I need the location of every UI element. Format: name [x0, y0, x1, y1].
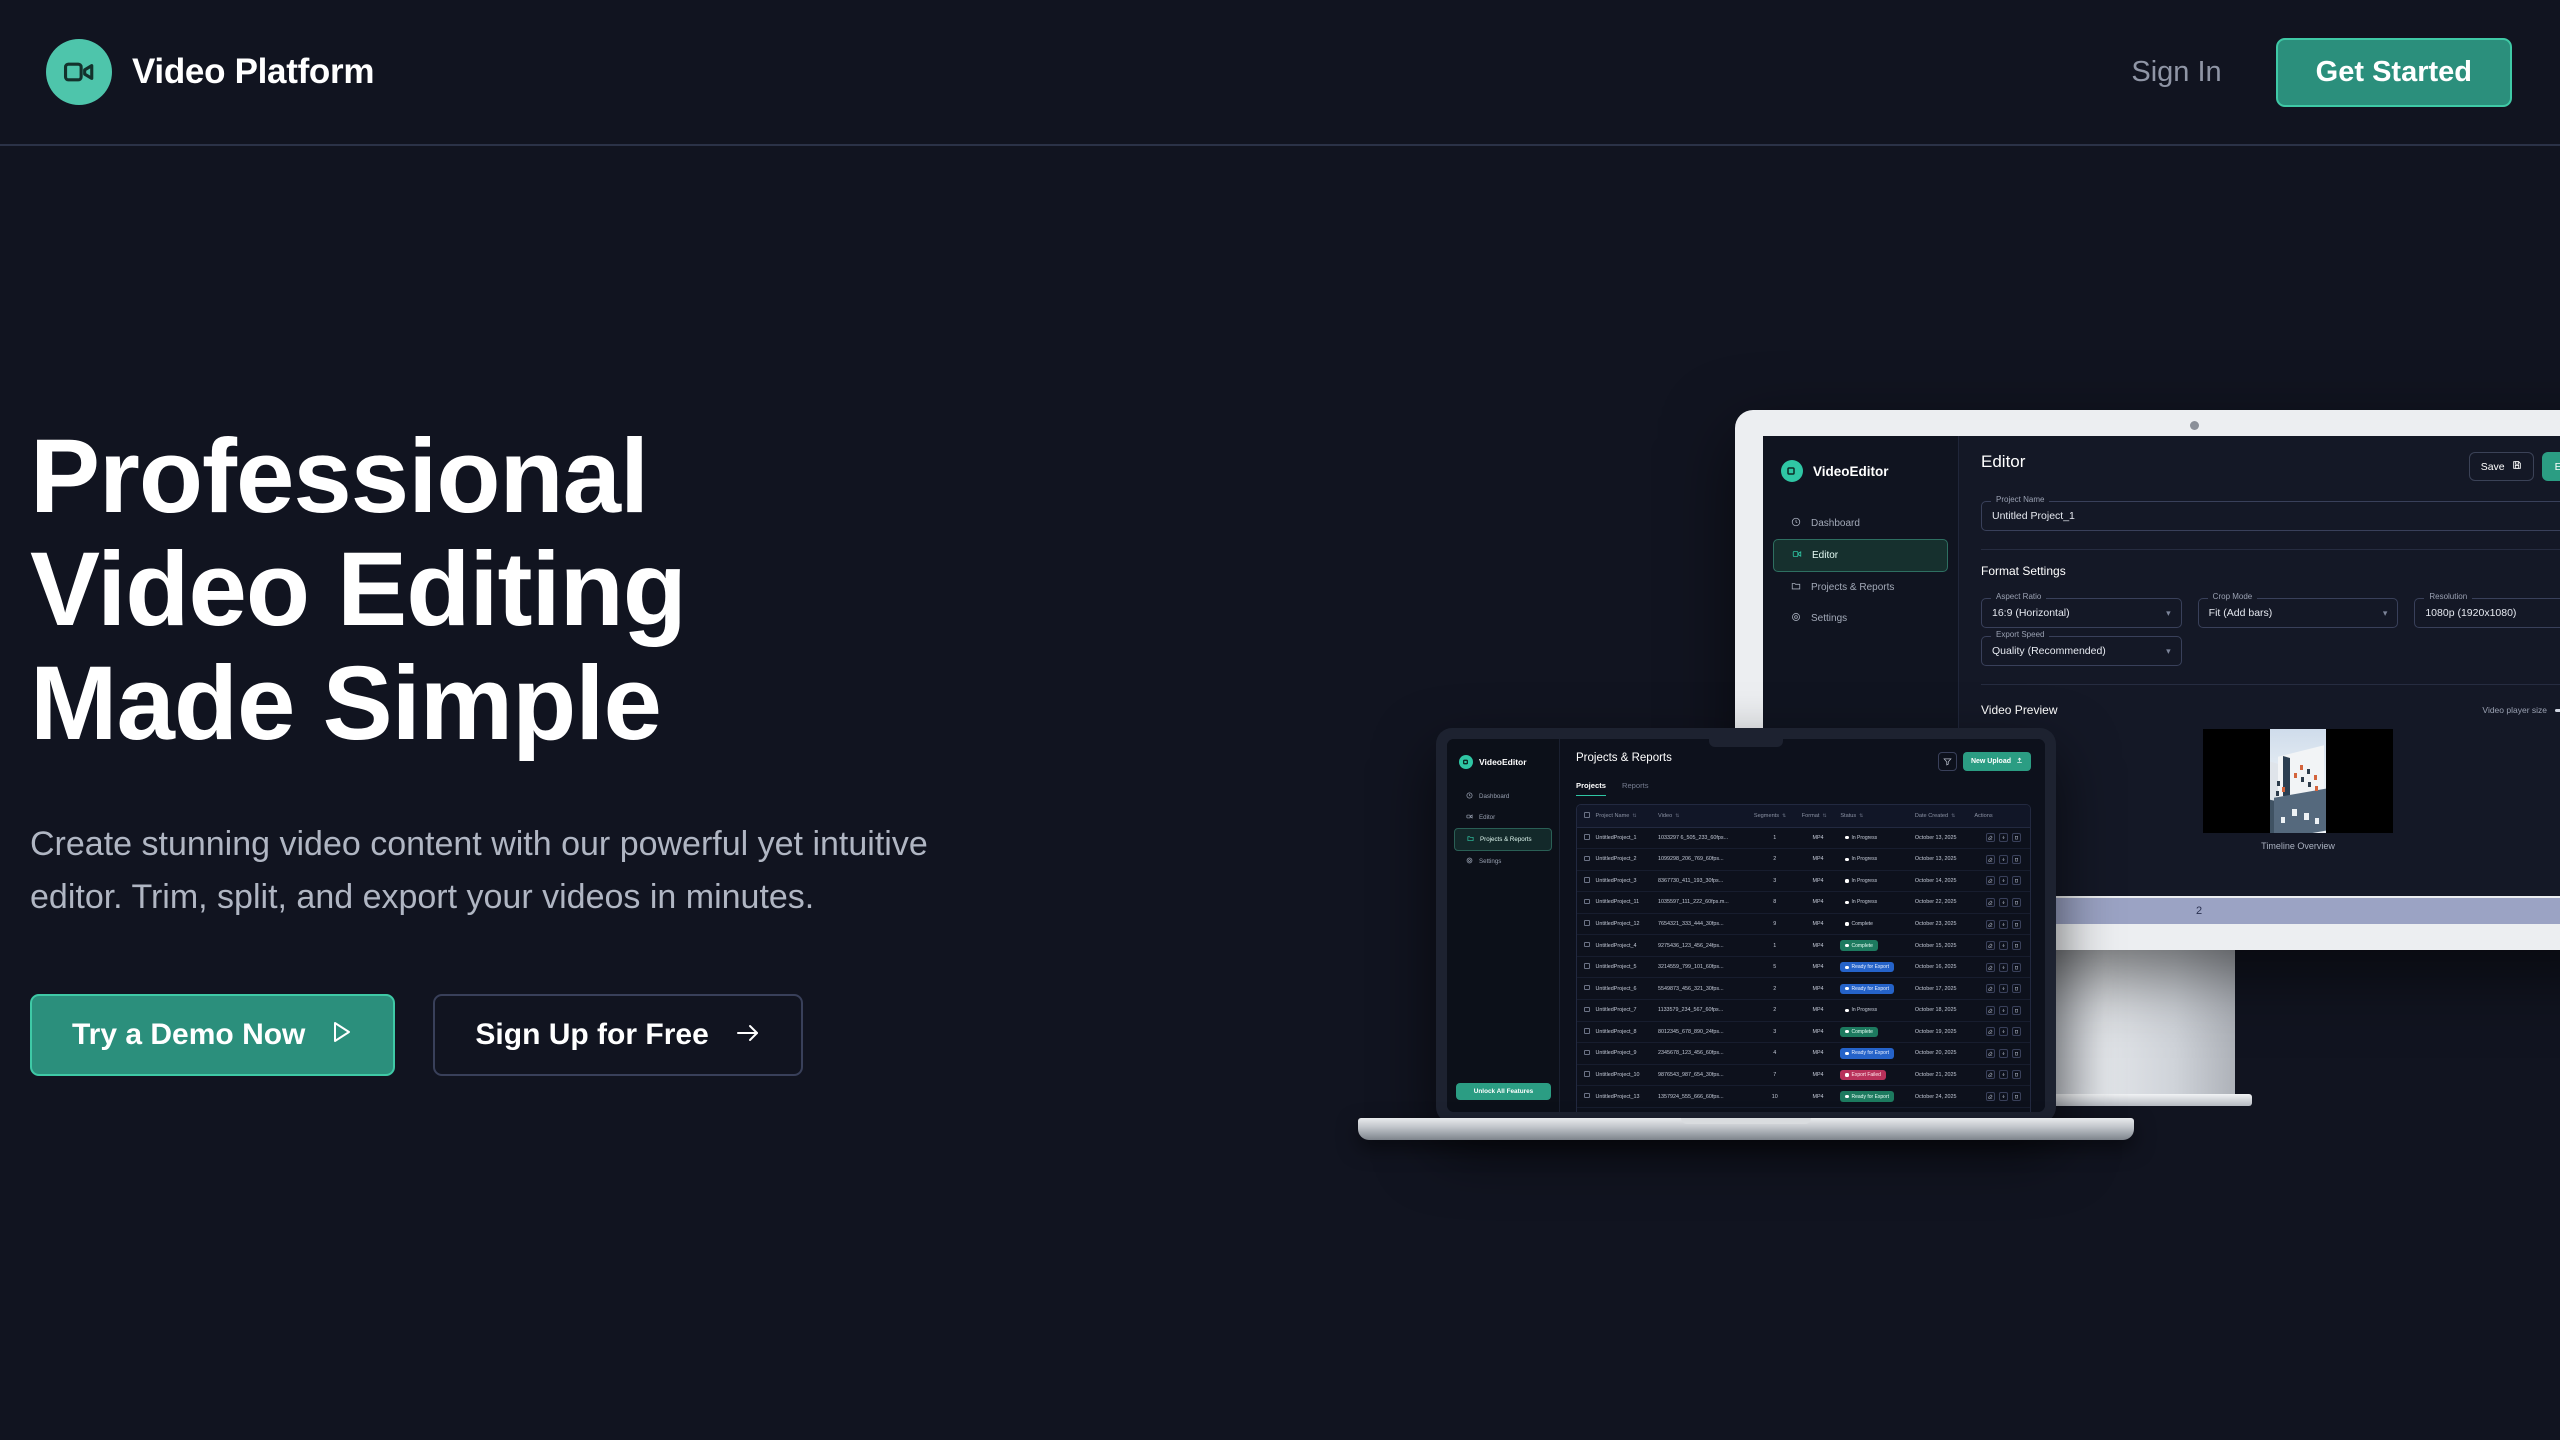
cell-video: 3214559_799_101_60fps...: [1655, 956, 1751, 978]
cell-status: Ready for Export: [1837, 978, 1912, 1000]
cell-video: 5549873_456_321_30fps...: [1655, 978, 1751, 1000]
row-checkbox-cell[interactable]: [1577, 935, 1593, 957]
sidebar-item-settings[interactable]: Settings: [1773, 603, 1948, 634]
delete-icon[interactable]: [2012, 1070, 2021, 1079]
row-checkbox-cell[interactable]: [1577, 1086, 1593, 1108]
dashboard-icon: [1791, 517, 1801, 530]
monitor-camera-dot: [2190, 421, 2199, 430]
crop-mode-label: Crop Mode: [2208, 592, 2258, 601]
status-badge: Ready for Export: [1840, 1091, 1894, 1101]
cell-video: 7654321_333_444_30fps...: [1655, 913, 1751, 935]
status-badge: Ready for Export: [1840, 962, 1894, 972]
cell-segments: 1: [1751, 935, 1799, 957]
status-badge: Export Failed: [1840, 1070, 1886, 1080]
cell-date-created: October 18, 2025: [1912, 1000, 1971, 1022]
cell-status: In Progress: [1837, 849, 1912, 871]
checkbox[interactable]: [1584, 1071, 1590, 1077]
table-row[interactable]: UntitledProject_127654321_333_444_30fps.…: [1577, 913, 2030, 935]
editor-topbar: Editor Save Export: [1981, 452, 2560, 481]
edit-icon[interactable]: [1986, 876, 1995, 885]
projects-main-panel: Projects & Reports New Upload: [1560, 739, 2045, 1112]
sign-in-link[interactable]: Sign In: [2131, 56, 2221, 89]
projects-page-title: Projects & Reports: [1576, 752, 1672, 764]
cell-segments: 11: [1751, 1107, 1799, 1112]
cell-video: 8012345_678_890_24fps...: [1655, 1021, 1751, 1043]
hero-cta-group: Try a Demo Now Sign Up for Free: [30, 994, 1130, 1076]
projects-table: Project Name⇅ Video⇅ Segments⇅ Format⇅ S…: [1576, 804, 2031, 1112]
download-icon[interactable]: [1999, 898, 2008, 907]
export-speed-select[interactable]: Quality (Recommended) ▾: [1981, 636, 2182, 666]
cell-format: MP4: [1799, 1107, 1838, 1112]
delete-icon[interactable]: [2012, 984, 2021, 993]
projects-sidebar: VideoEditor Dashboard Editor: [1447, 739, 1560, 1112]
table-row[interactable]: UntitledProject_53214559_799_101_60fps..…: [1577, 956, 2030, 978]
player-size-slider[interactable]: [2555, 709, 2560, 712]
get-started-button[interactable]: Get Started: [2276, 38, 2512, 107]
video-camera-icon: [46, 39, 112, 105]
delete-icon[interactable]: [2012, 1049, 2021, 1058]
status-badge: In Progress: [1840, 833, 1882, 843]
monitor-stand-neck: [2035, 950, 2235, 1098]
edit-icon[interactable]: [1986, 833, 1995, 842]
cell-format: MP4: [1799, 935, 1838, 957]
crop-mode-value: Fit (Add bars): [2209, 607, 2273, 619]
filter-icon[interactable]: [1938, 752, 1957, 771]
table-row[interactable]: UntitledProject_71133579_234_567_60fps..…: [1577, 1000, 2030, 1022]
edit-icon[interactable]: [1986, 941, 1995, 950]
select-all-header[interactable]: [1577, 805, 1593, 827]
video-preview-frame: [2203, 729, 2393, 833]
laptop-base: [1358, 1118, 2134, 1140]
cell-actions: [1971, 1107, 2030, 1112]
cell-video: 9876543_987_654_30fps...: [1655, 1064, 1751, 1086]
resolution-value: 1080p (1920x1080): [2425, 607, 2516, 619]
cell-project-name: UntitledProject_14: [1593, 1107, 1655, 1112]
sidebar-item-projects-reports[interactable]: Projects & Reports: [1454, 828, 1552, 851]
cell-date-created: October 14, 2025: [1912, 870, 1971, 892]
cell-project-name: UntitledProject_4: [1593, 935, 1655, 957]
chevron-down-icon: ▾: [2166, 646, 2171, 657]
chevron-down-icon: ▾: [2166, 608, 2171, 619]
delete-icon[interactable]: [2012, 1092, 2021, 1101]
table-row[interactable]: UntitledProject_88012345_678_890_24fps..…: [1577, 1021, 2030, 1043]
try-demo-label: Try a Demo Now: [72, 1018, 305, 1052]
cell-format: MP4: [1799, 913, 1838, 935]
download-icon[interactable]: [1999, 1006, 2008, 1015]
download-icon[interactable]: [1999, 1049, 2008, 1058]
download-icon[interactable]: [1999, 920, 2008, 929]
table-header-row: Project Name⇅ Video⇅ Segments⇅ Format⇅ S…: [1577, 805, 2030, 827]
dashboard-icon: [1466, 792, 1473, 801]
table-row[interactable]: UntitledProject_21099298_206_769_60fps..…: [1577, 849, 2030, 871]
delete-icon[interactable]: [2012, 876, 2021, 885]
cell-project-name: UntitledProject_11: [1593, 892, 1655, 914]
checkbox[interactable]: [1584, 812, 1590, 818]
edit-icon[interactable]: [1986, 1027, 1995, 1036]
cell-video: 8367730_411_193_30fps...: [1655, 870, 1751, 892]
row-checkbox-cell[interactable]: [1577, 956, 1593, 978]
divider: [1981, 684, 2560, 685]
cell-project-name: UntitledProject_5: [1593, 956, 1655, 978]
project-name-input[interactable]: Untitled Project_1: [1981, 501, 2560, 531]
site-header: Video Platform Sign In Get Started: [0, 0, 2560, 146]
export-button[interactable]: Export: [2542, 452, 2560, 481]
sidebar-item-editor[interactable]: Editor: [1454, 807, 1552, 828]
page-title: Professional Video Editing Made Simple: [30, 420, 1130, 760]
hero-subtitle: Create stunning video content with our p…: [30, 818, 990, 923]
sign-up-free-button[interactable]: Sign Up for Free: [433, 994, 802, 1076]
projects-brand-name: VideoEditor: [1479, 757, 1527, 767]
table-row[interactable]: UntitledProject_11033297 6_505_233_60fps…: [1577, 827, 2030, 849]
export-speed-field-group: Export Speed Quality (Recommended) ▾: [1981, 636, 2182, 666]
col-date-created[interactable]: Date Created⇅: [1912, 805, 1971, 827]
download-icon[interactable]: [1999, 1027, 2008, 1036]
download-icon[interactable]: [1999, 1092, 2008, 1101]
status-badge: In Progress: [1840, 854, 1882, 864]
table-row[interactable]: UntitledProject_142468135_777_888_24fps.…: [1577, 1107, 2030, 1112]
tab-projects[interactable]: Projects: [1576, 781, 1606, 796]
row-checkbox-cell[interactable]: [1577, 827, 1593, 849]
projects-topbar: Projects & Reports New Upload: [1576, 752, 2031, 771]
cell-format: MP4: [1799, 978, 1838, 1000]
checkbox[interactable]: [1584, 856, 1590, 862]
delete-icon[interactable]: [2012, 941, 2021, 950]
cell-project-name: UntitledProject_13: [1593, 1086, 1655, 1108]
cell-date-created: October 24, 2025: [1912, 1086, 1971, 1108]
landing-page: Video Platform Sign In Get Started Profe…: [0, 0, 2560, 1440]
row-checkbox-cell[interactable]: [1577, 978, 1593, 1000]
cell-format: MP4: [1799, 1043, 1838, 1065]
row-checkbox-cell[interactable]: [1577, 849, 1593, 871]
row-checkbox-cell[interactable]: [1577, 870, 1593, 892]
laptop-mockup: VideoEditor Dashboard Editor: [1436, 728, 2056, 1123]
video-still-image: [2270, 729, 2326, 833]
cell-status: In Progress: [1837, 827, 1912, 849]
save-label: Save: [2481, 461, 2505, 473]
checkbox[interactable]: [1584, 1007, 1590, 1013]
sidebar-item-dashboard[interactable]: Dashboard: [1454, 786, 1552, 807]
download-icon[interactable]: [1999, 984, 2008, 993]
checkbox[interactable]: [1584, 942, 1590, 948]
row-checkbox-cell[interactable]: [1577, 1064, 1593, 1086]
crop-mode-field-group: Crop Mode Fit (Add bars) ▾: [2198, 598, 2399, 628]
cell-video: 9275436_123_456_24fps...: [1655, 935, 1751, 957]
sidebar-label: Settings: [1811, 613, 1847, 624]
cell-format: MP4: [1799, 849, 1838, 871]
project-name-label: Project Name: [1991, 495, 2049, 504]
cell-status: Complete: [1837, 913, 1912, 935]
delete-icon[interactable]: [2012, 855, 2021, 864]
export-label: Export: [2555, 461, 2560, 473]
player-size-slider-group: Video player size: [2482, 705, 2560, 715]
cell-actions: [1971, 892, 2030, 914]
checkbox[interactable]: [1584, 1028, 1590, 1034]
video-camera-icon: [1781, 460, 1803, 482]
resolution-field-group: Resolution 1080p (1920x1080) ▾: [2414, 598, 2560, 628]
cell-project-name: UntitledProject_10: [1593, 1064, 1655, 1086]
edit-icon[interactable]: [1986, 898, 1995, 907]
cell-date-created: October 13, 2025: [1912, 827, 1971, 849]
cell-status: Ready for Export: [1837, 1043, 1912, 1065]
cell-actions: [1971, 935, 2030, 957]
download-icon[interactable]: [1999, 941, 2008, 950]
cell-segments: 3: [1751, 870, 1799, 892]
cell-video: 1035597_111_222_60fps.m...: [1655, 892, 1751, 914]
projects-app-screen: VideoEditor Dashboard Editor: [1447, 739, 2045, 1112]
cell-segments: 2: [1751, 849, 1799, 871]
brand-name: Video Platform: [132, 52, 374, 92]
col-project-name[interactable]: Project Name⇅: [1593, 805, 1655, 827]
row-checkbox-cell[interactable]: [1577, 1043, 1593, 1065]
sidebar-label: Projects & Reports: [1811, 582, 1894, 593]
format-settings-heading: Format Settings: [1981, 564, 2560, 578]
editor-brand: VideoEditor: [1763, 454, 1958, 482]
col-segments[interactable]: Segments⇅: [1751, 805, 1799, 827]
cell-segments: 2: [1751, 978, 1799, 1000]
checkbox[interactable]: [1584, 899, 1590, 905]
sidebar-label: Projects & Reports: [1480, 836, 1532, 843]
cell-project-name: UntitledProject_9: [1593, 1043, 1655, 1065]
cell-segments: 3: [1751, 1021, 1799, 1043]
checkbox[interactable]: [1584, 985, 1590, 991]
cell-segments: 2: [1751, 1000, 1799, 1022]
status-badge: In Progress: [1840, 1005, 1882, 1015]
delete-icon[interactable]: [2012, 833, 2021, 842]
table-row[interactable]: UntitledProject_49275436_123_456_24fps..…: [1577, 935, 2030, 957]
sidebar-label: Editor: [1479, 814, 1495, 821]
edit-icon[interactable]: [1986, 1006, 1995, 1015]
projects-brand: VideoEditor: [1447, 755, 1559, 769]
sidebar-label: Settings: [1479, 858, 1501, 865]
cell-date-created: October 19, 2025: [1912, 1021, 1971, 1043]
folder-icon: [1467, 835, 1474, 844]
laptop-lid: VideoEditor Dashboard Editor: [1436, 728, 2056, 1123]
edit-icon[interactable]: [1986, 1092, 1995, 1101]
table-row[interactable]: UntitledProject_65549873_456_321_30fps..…: [1577, 978, 2030, 1000]
cell-status: In Progress: [1837, 1107, 1912, 1112]
timeline-caption: Timeline Overview: [1981, 841, 2560, 851]
cell-segments: 10: [1751, 1086, 1799, 1108]
download-icon[interactable]: [1999, 876, 2008, 885]
status-badge: Complete: [1840, 940, 1878, 950]
cell-actions: [1971, 956, 2030, 978]
cell-status: In Progress: [1837, 870, 1912, 892]
laptop-base-notch: [1681, 1118, 1811, 1124]
row-checkbox-cell[interactable]: [1577, 913, 1593, 935]
hero-title-line-3: Made Simple: [30, 647, 1130, 760]
cell-actions: [1971, 1064, 2030, 1086]
delete-icon[interactable]: [2012, 963, 2021, 972]
status-badge: Ready for Export: [1840, 1048, 1894, 1058]
table-row[interactable]: UntitledProject_131357924_555_666_60fps.…: [1577, 1086, 2030, 1108]
cell-format: MP4: [1799, 870, 1838, 892]
col-video[interactable]: Video⇅: [1655, 805, 1751, 827]
status-badge: Ready for Export: [1840, 984, 1894, 994]
save-button[interactable]: Save: [2469, 452, 2534, 481]
cell-date-created: October 23, 2025: [1912, 913, 1971, 935]
status-badge: In Progress: [1840, 876, 1882, 886]
cell-date-created: October 13, 2025: [1912, 849, 1971, 871]
cell-actions: [1971, 849, 2030, 871]
play-icon: [331, 1018, 353, 1052]
cell-format: MP4: [1799, 827, 1838, 849]
crop-mode-select[interactable]: Fit (Add bars) ▾: [2198, 598, 2399, 628]
aspect-ratio-value: 16:9 (Horizontal): [1992, 607, 2070, 619]
sidebar-label: Dashboard: [1811, 518, 1860, 529]
row-checkbox-cell[interactable]: [1577, 1021, 1593, 1043]
edit-icon[interactable]: [1986, 1049, 1995, 1058]
status-badge: Complete: [1840, 1027, 1878, 1037]
delete-icon[interactable]: [2012, 920, 2021, 929]
cell-date-created: October 20, 2025: [1912, 1043, 1971, 1065]
cell-format: MP4: [1799, 1086, 1838, 1108]
cell-actions: [1971, 1021, 2030, 1043]
download-icon[interactable]: [1999, 833, 2008, 842]
cell-format: MP4: [1799, 1021, 1838, 1043]
upload-icon: [2016, 757, 2023, 766]
sign-up-label: Sign Up for Free: [475, 1018, 708, 1052]
cell-video: 1099298_206_769_60fps...: [1655, 849, 1751, 871]
row-checkbox-cell[interactable]: [1577, 1000, 1593, 1022]
checkbox[interactable]: [1584, 1050, 1590, 1056]
cell-status: Export Failed: [1837, 1064, 1912, 1086]
cell-status: Ready for Export: [1837, 956, 1912, 978]
arrow-right-icon: [735, 1018, 761, 1052]
cell-date-created: October 21, 2025: [1912, 1064, 1971, 1086]
cell-project-name: UntitledProject_3: [1593, 870, 1655, 892]
cell-segments: 8: [1751, 892, 1799, 914]
chevron-down-icon: ▾: [2383, 608, 2388, 619]
format-settings-row-2: Export Speed Quality (Recommended) ▾: [1981, 628, 2560, 666]
cell-date-created: October 22, 2025: [1912, 892, 1971, 914]
cell-actions: [1971, 1086, 2030, 1108]
row-checkbox-cell[interactable]: [1577, 1107, 1593, 1112]
video-preview-header: Video Preview Video player size: [1981, 703, 2560, 717]
sidebar-item-dashboard[interactable]: Dashboard: [1773, 508, 1948, 539]
cell-video: 1357924_555_666_60fps...: [1655, 1086, 1751, 1108]
cell-segments: 5: [1751, 956, 1799, 978]
gear-icon: [1466, 857, 1473, 866]
checkbox[interactable]: [1584, 834, 1590, 840]
hero-title-line-1: Professional: [30, 420, 1130, 533]
edit-icon[interactable]: [1986, 984, 1995, 993]
new-upload-button[interactable]: New Upload: [1963, 752, 2031, 771]
checkbox[interactable]: [1584, 1093, 1590, 1099]
cell-project-name: UntitledProject_7: [1593, 1000, 1655, 1022]
delete-icon[interactable]: [2012, 1027, 2021, 1036]
tab-reports[interactable]: Reports: [1622, 781, 1649, 796]
cell-format: MP4: [1799, 1064, 1838, 1086]
cell-actions: [1971, 827, 2030, 849]
edit-icon[interactable]: [1986, 920, 1995, 929]
cell-actions: [1971, 913, 2030, 935]
cell-date-created: October 16, 2025: [1912, 956, 1971, 978]
header-actions: Sign In Get Started: [2131, 38, 2512, 107]
col-format[interactable]: Format⇅: [1799, 805, 1838, 827]
cell-segments: 7: [1751, 1064, 1799, 1086]
cell-video: 2468135_777_888_24fps...: [1655, 1107, 1751, 1112]
unlock-all-features-button[interactable]: Unlock All Features: [1456, 1083, 1551, 1100]
sidebar-label: Editor: [1812, 550, 1838, 561]
try-demo-button[interactable]: Try a Demo Now: [30, 994, 395, 1076]
cell-date-created: October 15, 2025: [1912, 935, 1971, 957]
table-row[interactable]: UntitledProject_38367730_411_193_30fps..…: [1577, 870, 2030, 892]
cell-segments: 9: [1751, 913, 1799, 935]
editor-icon: [1466, 813, 1473, 822]
hero-section: Professional Video Editing Made Simple C…: [30, 420, 1130, 1076]
resolution-label: Resolution: [2424, 592, 2472, 601]
col-status[interactable]: Status⇅: [1837, 805, 1912, 827]
sidebar-item-editor[interactable]: Editor: [1773, 539, 1948, 572]
cell-actions: [1971, 978, 2030, 1000]
divider: [1981, 549, 2560, 550]
cell-status: Ready for Export: [1837, 1086, 1912, 1108]
cell-video: 2345678_123_456_60fps...: [1655, 1043, 1751, 1065]
table-body: UntitledProject_11033297 6_505_233_60fps…: [1577, 827, 2030, 1112]
folder-icon: [1791, 581, 1801, 594]
delete-icon[interactable]: [2012, 898, 2021, 907]
edit-icon[interactable]: [1986, 1070, 1995, 1079]
aspect-ratio-select[interactable]: 16:9 (Horizontal) ▾: [1981, 598, 2182, 628]
col-actions: Actions: [1971, 805, 2030, 827]
table-row[interactable]: UntitledProject_111035597_111_222_60fps.…: [1577, 892, 2030, 914]
edit-icon[interactable]: [1986, 963, 1995, 972]
cell-project-name: UntitledProject_6: [1593, 978, 1655, 1000]
cell-date-created: October 25, 2025: [1912, 1107, 1971, 1112]
sidebar-label: Dashboard: [1479, 793, 1509, 800]
cell-video: 1133579_234_567_60fps...: [1655, 1000, 1751, 1022]
table-row[interactable]: UntitledProject_92345678_123_456_60fps..…: [1577, 1043, 2030, 1065]
brand-logo[interactable]: Video Platform: [46, 39, 374, 105]
export-speed-label: Export Speed: [1991, 630, 2049, 639]
cell-status: In Progress: [1837, 892, 1912, 914]
video-preview-title: Video Preview: [1981, 703, 2058, 717]
row-checkbox-cell[interactable]: [1577, 892, 1593, 914]
sidebar-item-settings[interactable]: Settings: [1454, 851, 1552, 872]
checkbox[interactable]: [1584, 963, 1590, 969]
projects-tabs: Projects Reports: [1576, 781, 2031, 796]
editor-action-buttons: Save Export: [2469, 452, 2560, 481]
checkbox[interactable]: [1584, 877, 1590, 883]
hero-title-line-2: Video Editing: [30, 533, 1130, 646]
cell-status: Complete: [1837, 935, 1912, 957]
resolution-select[interactable]: 1080p (1920x1080) ▾: [2414, 598, 2560, 628]
cell-format: MP4: [1799, 956, 1838, 978]
cell-status: Complete: [1837, 1021, 1912, 1043]
status-badge: In Progress: [1840, 897, 1882, 907]
download-icon[interactable]: [1999, 1070, 2008, 1079]
cell-format: MP4: [1799, 892, 1838, 914]
table-row[interactable]: UntitledProject_109876543_987_654_30fps.…: [1577, 1064, 2030, 1086]
gear-icon: [1791, 612, 1801, 625]
cell-actions: [1971, 870, 2030, 892]
cell-project-name: UntitledProject_12: [1593, 913, 1655, 935]
download-icon[interactable]: [1999, 855, 2008, 864]
delete-icon[interactable]: [2012, 1006, 2021, 1015]
aspect-ratio-field-group: Aspect Ratio 16:9 (Horizontal) ▾: [1981, 598, 2182, 628]
edit-icon[interactable]: [1986, 855, 1995, 864]
editor-page-title: Editor: [1981, 452, 2025, 472]
checkbox[interactable]: [1584, 920, 1590, 926]
export-speed-value: Quality (Recommended): [1992, 645, 2106, 657]
sidebar-item-projects-reports[interactable]: Projects & Reports: [1773, 572, 1948, 603]
laptop-camera-notch: [1709, 739, 1783, 747]
download-icon[interactable]: [1999, 963, 2008, 972]
new-upload-label: New Upload: [1971, 758, 2011, 765]
player-size-label: Video player size: [2482, 705, 2547, 715]
cell-project-name: UntitledProject_8: [1593, 1021, 1655, 1043]
cell-actions: [1971, 1000, 2030, 1022]
